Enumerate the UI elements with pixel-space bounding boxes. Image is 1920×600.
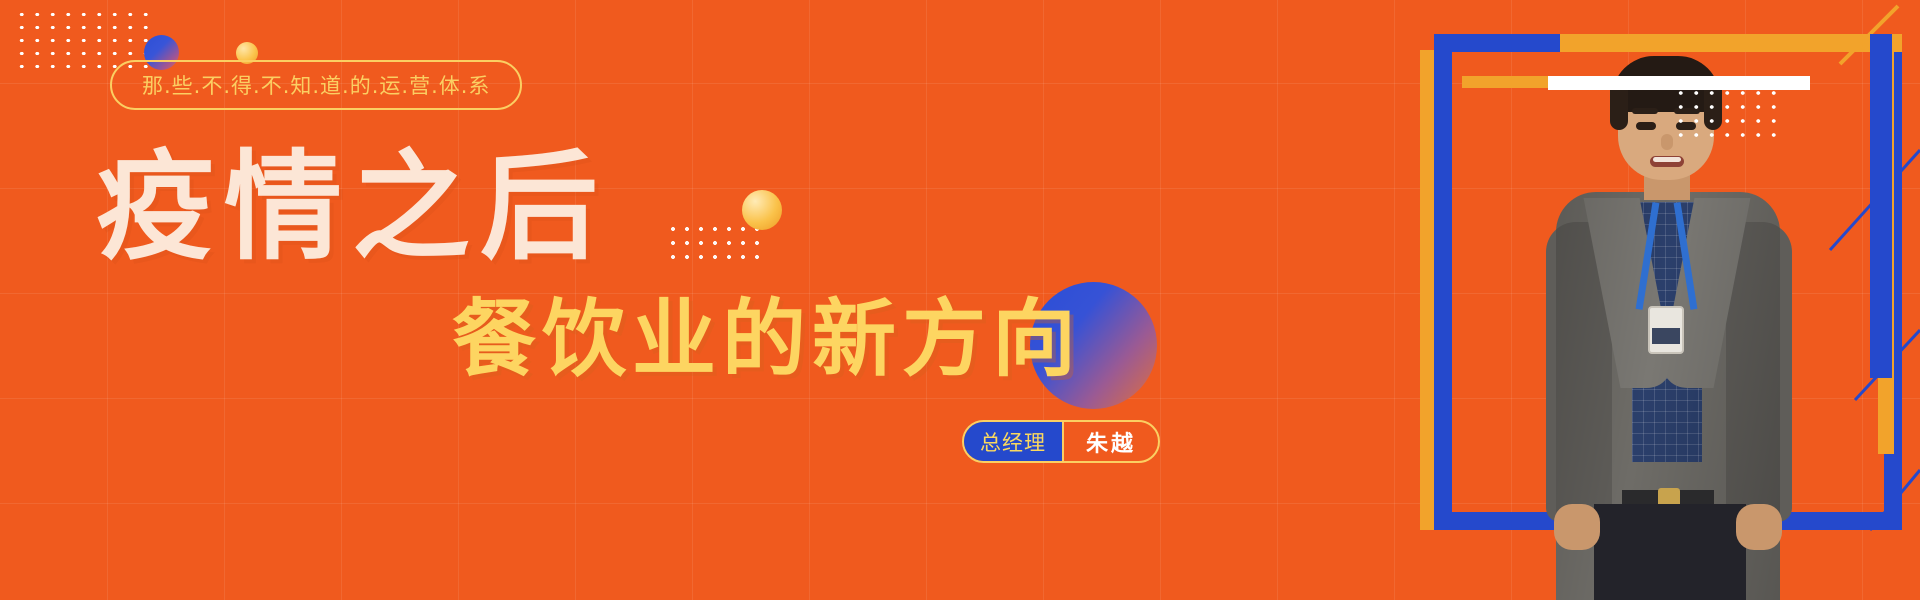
frame-amber-top	[1560, 34, 1902, 52]
speaker-badge: 总经理 朱越	[962, 420, 1160, 463]
frame-white-bar	[1548, 76, 1810, 90]
dot-grid-icon	[666, 222, 761, 266]
subtitle-pill: 那.些.不.得.不.知.道.的.运.营.体.系	[110, 60, 522, 110]
frame-amber-inner-left	[1462, 76, 1548, 88]
page-title-line-1: 疫情之后	[96, 148, 608, 266]
speaker-role: 总经理	[964, 422, 1062, 461]
sphere-icon	[742, 190, 782, 230]
frame-amber-outer-left	[1420, 50, 1434, 530]
subtitle-text: 那.些.不.得.不.知.道.的.运.营.体.系	[142, 70, 490, 100]
promo-banner: 那.些.不.得.不.知.道.的.运.营.体.系 疫情之后 餐饮业的新方向 总经理…	[0, 0, 1920, 600]
speaker-name: 朱越	[1064, 422, 1158, 461]
avatar	[1540, 52, 1810, 600]
frame-blue-right	[1870, 34, 1892, 378]
page-title-line-2: 餐饮业的新方向	[452, 297, 1082, 381]
speaker-photo-composition	[1400, 0, 1920, 600]
portrait-fade	[1540, 52, 1810, 600]
